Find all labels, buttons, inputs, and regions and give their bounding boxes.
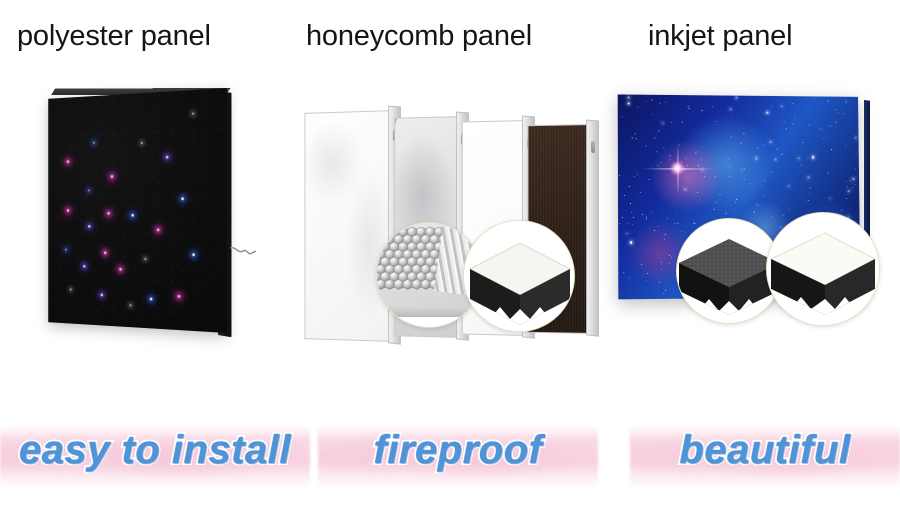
star-speck [757, 147, 758, 148]
star-speck [687, 106, 688, 107]
star-speck [786, 128, 787, 129]
star-speck [666, 218, 667, 219]
inset-panel-corner [463, 220, 575, 332]
star-speck [627, 233, 629, 235]
led-star-dot [141, 142, 143, 144]
star-speck [731, 136, 732, 137]
star-speck [642, 214, 643, 215]
star-speck [793, 103, 794, 104]
panel-corner-drawing [464, 221, 574, 331]
star-speck [682, 122, 683, 123]
star-speck [766, 112, 768, 114]
star-speck [619, 223, 620, 224]
star-speck [660, 163, 661, 164]
caption-row: easy to install fireproof beautiful [0, 412, 900, 532]
polyester-panel-image [22, 88, 272, 348]
star-speck [823, 138, 824, 139]
star-speck [771, 216, 772, 217]
star-speck [855, 184, 856, 185]
star-speck [629, 278, 630, 279]
star-speck [846, 198, 847, 199]
star-speck [848, 190, 850, 192]
star-speck [781, 154, 782, 155]
star-speck [685, 159, 686, 160]
star-speck [665, 234, 666, 235]
star-speck [669, 160, 670, 161]
led-star-dot [177, 295, 180, 298]
star-speck [671, 122, 672, 123]
star-speck [776, 149, 777, 150]
star-speck [636, 174, 637, 175]
star-speck [798, 157, 800, 159]
star-speck [658, 166, 659, 167]
star-speck [788, 209, 789, 210]
inset-white-face-corner [766, 212, 880, 326]
star-speck [780, 226, 781, 227]
product-title-polyester: polyester panel [17, 20, 211, 53]
star-speck [669, 155, 670, 156]
star-speck [627, 223, 628, 224]
star-speck [823, 130, 824, 131]
star-speck [632, 137, 633, 138]
star-speck [661, 269, 662, 270]
star-speck [855, 136, 857, 138]
star-speck [728, 158, 729, 159]
led-star-dot [88, 225, 90, 228]
star-speck [852, 178, 854, 180]
star-speck [764, 181, 765, 182]
led-star-dot [70, 289, 72, 291]
star-speck [742, 171, 743, 172]
star-speck [629, 186, 630, 187]
star-speck [829, 198, 831, 200]
star-speck [807, 158, 808, 159]
star-speck [835, 122, 836, 123]
power-cable-icon [230, 240, 256, 262]
star-speck [770, 141, 772, 143]
led-star-dot [130, 304, 132, 306]
star-speck [630, 241, 632, 243]
star-speck [652, 166, 653, 167]
star-speck [651, 212, 652, 213]
caption-fireproof: fireproof [318, 412, 598, 508]
led-star-dot [107, 212, 110, 215]
star-speck [831, 149, 832, 150]
led-star-dot [66, 209, 68, 212]
star-speck [783, 215, 784, 216]
led-star-dot [150, 298, 153, 301]
star-speck [750, 183, 751, 184]
star-speck [845, 100, 846, 101]
led-star-dot [157, 229, 160, 232]
star-speck [837, 112, 838, 113]
star-speck [850, 180, 851, 181]
star-speck [793, 124, 794, 125]
star-speck [828, 101, 829, 102]
star-speck [830, 126, 831, 127]
led-star-dot [83, 265, 85, 268]
star-speck [665, 102, 666, 103]
star-speck [695, 152, 696, 153]
star-speck [809, 125, 810, 126]
star-speck [624, 195, 625, 196]
star-speck [671, 257, 672, 258]
star-speck [655, 137, 656, 138]
led-star-dot [88, 189, 90, 191]
star-speck [851, 184, 852, 185]
product-title-inkjet: inkjet panel [648, 20, 792, 53]
star-speck [698, 165, 699, 166]
product-column-inkjet [610, 80, 900, 410]
star-speck [687, 166, 688, 167]
star-speck [651, 100, 652, 101]
star-speck [841, 210, 842, 211]
star-speck [726, 212, 727, 213]
product-column-honeycomb [300, 80, 610, 410]
star-speck [697, 192, 698, 193]
star-speck [764, 145, 765, 146]
star-speck [689, 108, 690, 109]
caption-label: fireproof [318, 428, 598, 473]
star-speck [678, 223, 679, 224]
star-speck [740, 169, 741, 170]
star-speck [757, 205, 758, 206]
star-speck [635, 133, 636, 134]
star-speck [681, 230, 682, 231]
star-speck [827, 172, 828, 173]
star-speck [645, 101, 646, 102]
star-speck [756, 158, 758, 160]
star-burst-core [669, 160, 685, 176]
star-speck [646, 280, 647, 281]
star-speck [810, 187, 811, 188]
led-star-dot [66, 160, 68, 163]
star-speck [809, 193, 810, 194]
star-speck [740, 142, 741, 143]
led-star-dot [192, 253, 195, 256]
star-speck [663, 239, 664, 240]
star-speck [676, 211, 677, 212]
star-speck [701, 110, 702, 111]
star-speck [664, 147, 665, 148]
star-speck [781, 106, 783, 108]
star-speck [784, 122, 785, 123]
star-speck [619, 175, 620, 176]
star-speck [754, 211, 755, 212]
star-speck [788, 186, 790, 188]
led-star-dot [144, 258, 146, 260]
star-speck [775, 159, 777, 161]
star-speck [736, 97, 738, 99]
led-star-dot [166, 156, 169, 159]
star-speck [632, 224, 633, 225]
star-speck [846, 102, 847, 103]
star-speck [640, 192, 641, 193]
star-speck [819, 128, 820, 129]
star-speck [845, 145, 846, 146]
star-speck [658, 130, 659, 131]
panel-corner-body [464, 221, 574, 331]
star-speck [641, 264, 642, 265]
star-speck [679, 144, 680, 145]
caption-label: easy to install [0, 428, 310, 473]
star-speck [732, 115, 733, 116]
star-speck [659, 102, 660, 103]
star-speck [621, 116, 622, 117]
panel-notch [591, 141, 595, 153]
star-speck [801, 165, 802, 166]
led-star-dot [181, 198, 184, 201]
led-star-dot [119, 268, 122, 271]
star-speck [656, 152, 657, 153]
product-column-polyester [0, 80, 300, 410]
caption-easy-to-install: easy to install [0, 412, 310, 508]
star-speck [855, 169, 856, 170]
star-speck [763, 196, 764, 197]
star-speck [736, 199, 737, 200]
led-star-dot [192, 112, 194, 114]
led-star-dot [132, 214, 135, 217]
star-speck [808, 176, 810, 178]
star-speck [669, 255, 670, 256]
caption-label: beautiful [630, 428, 900, 473]
star-speck [627, 102, 629, 104]
star-speck [685, 189, 687, 191]
star-speck [649, 179, 650, 180]
star-speck [704, 176, 705, 177]
star-speck [622, 217, 623, 218]
star-speck [714, 176, 715, 177]
star-speck [716, 121, 717, 122]
star-speck [771, 106, 772, 107]
led-star-dot [65, 249, 67, 251]
star-speck [652, 113, 653, 114]
star-speck [623, 272, 624, 273]
star-speck [719, 194, 720, 195]
star-speck [757, 155, 758, 156]
star-speck [663, 293, 664, 294]
led-star-dot [111, 175, 114, 178]
star-speck [771, 172, 772, 173]
star-speck [638, 107, 639, 108]
star-speck [661, 262, 662, 263]
star-speck [843, 113, 844, 114]
star-speck [812, 156, 814, 158]
star-speck [634, 176, 635, 177]
star-speck [852, 187, 853, 188]
led-star-dot [104, 251, 107, 254]
star-speck [662, 122, 664, 124]
star-speck [701, 159, 702, 160]
star-speck [646, 218, 647, 219]
product-title-honeycomb: honeycomb panel [306, 20, 532, 53]
star-speck [630, 203, 631, 204]
honeycomb-panel-image [300, 92, 610, 392]
star-speck [631, 212, 632, 213]
panel-frame-edge [586, 120, 599, 337]
star-speck [847, 186, 848, 187]
star-speck [628, 97, 630, 99]
star-speck [647, 273, 648, 274]
inkjet-panel-image [618, 94, 898, 374]
star-speck [836, 110, 837, 111]
led-star-dot [100, 294, 103, 297]
star-speck [730, 176, 731, 177]
star-speck [633, 217, 634, 218]
star-speck [669, 263, 670, 264]
star-speck [756, 203, 757, 204]
star-speck [712, 106, 713, 107]
star-speck [659, 282, 660, 283]
product-showcase-image: polyester panel honeycomb panel inkjet p… [0, 0, 900, 532]
caption-beautiful: beautiful [630, 412, 900, 508]
star-speck [744, 180, 745, 181]
white-face-corner-drawing [767, 213, 879, 325]
star-speck [764, 113, 765, 114]
star-speck [646, 145, 647, 146]
star-speck [730, 108, 732, 110]
star-speck [744, 169, 745, 170]
star-speck [665, 290, 666, 291]
led-star-dot [93, 142, 95, 144]
star-speck [715, 202, 716, 203]
star-speck [654, 230, 655, 231]
star-speck [694, 223, 695, 224]
star-speck [802, 142, 803, 143]
star-speck [636, 138, 637, 139]
star-speck [743, 133, 744, 134]
star-speck [729, 167, 730, 168]
star-ceiling-panel-face [48, 88, 227, 333]
star-speck [657, 226, 658, 227]
star-speck [713, 209, 714, 210]
star-speck [795, 118, 796, 119]
title-row: polyester panel honeycomb panel inkjet p… [0, 0, 900, 78]
star-speck [760, 185, 761, 186]
star-speck [735, 202, 736, 203]
star-speck [675, 222, 676, 223]
star-speck [808, 200, 809, 201]
star-speck [846, 182, 847, 183]
